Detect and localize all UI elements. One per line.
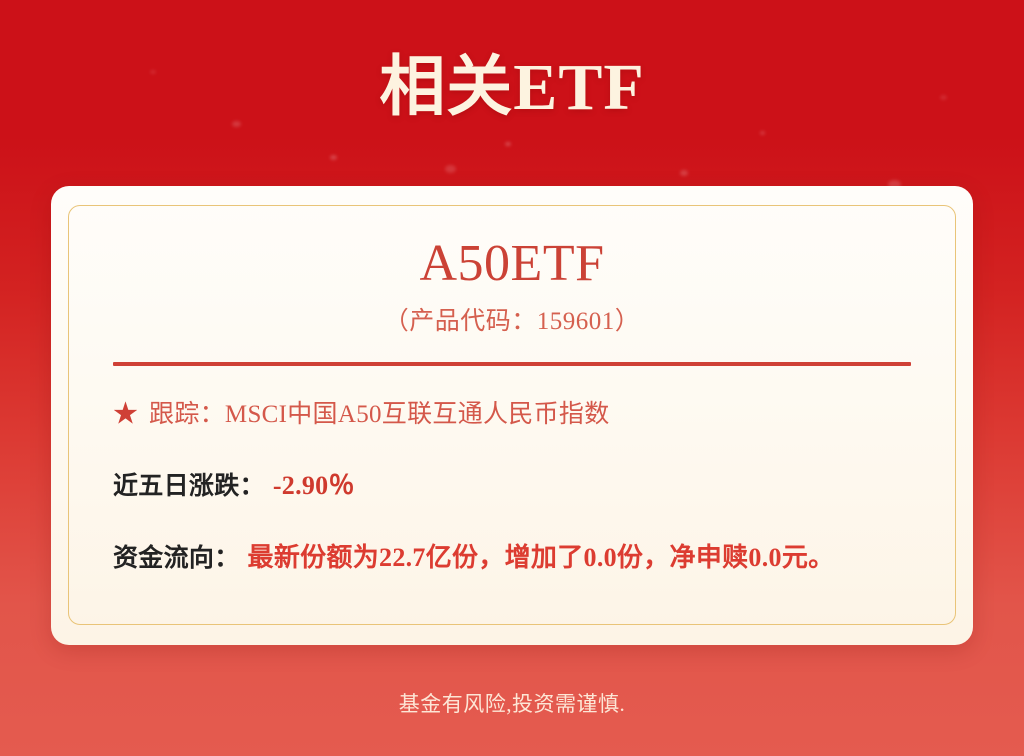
etf-card-inner-panel: A50ETF （产品代码：159601） ★ 跟踪：MSCI中国A50互联互通人… [68,205,956,625]
five-day-change-value: -2.90％ [273,465,355,502]
fund-flow-row: 资金流向： 最新份额为22.7亿份，增加了0.0份，净申赎0.0元。 [113,537,911,574]
tracking-index-text: 跟踪：MSCI中国A50互联互通人民币指数 [149,394,610,430]
section-divider [113,362,911,366]
page-title: 相关ETF [379,55,644,121]
star-icon: ★ [113,402,138,427]
tracking-index-row: ★ 跟踪：MSCI中国A50互联互通人民币指数 [113,394,911,430]
fund-flow-value: 最新份额为22.7亿份，增加了0.0份，净申赎0.0元。 [248,537,835,574]
header-banner: 相关ETF [0,0,1024,176]
etf-detail-rows: ★ 跟踪：MSCI中国A50互联互通人民币指数 近五日涨跌： -2.90％ 资金… [113,394,911,574]
fund-name: A50ETF [113,236,911,291]
five-day-change-label: 近五日涨跌： [113,466,265,502]
five-day-change-row: 近五日涨跌： -2.90％ [113,465,911,502]
fund-product-code: （产品代码：159601） [113,301,911,337]
risk-disclaimer: 基金有风险,投资需谨慎. [0,688,1024,718]
etf-card: A50ETF （产品代码：159601） ★ 跟踪：MSCI中国A50互联互通人… [51,186,973,645]
fund-flow-label: 资金流向： [113,538,240,574]
